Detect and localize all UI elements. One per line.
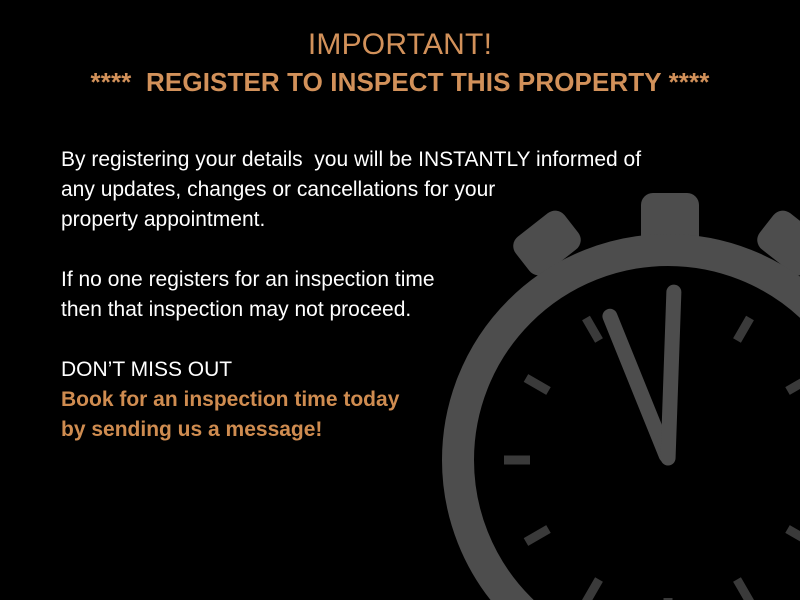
- cta-book-inspection: Book for an inspection time today: [61, 385, 721, 415]
- slide-canvas: IMPORTANT! **** REGISTER TO INSPECT THIS…: [0, 0, 800, 600]
- paragraph-registering-details: By registering your details you will be …: [61, 145, 721, 235]
- heading-important: IMPORTANT!: [0, 26, 800, 64]
- cta-dont-miss-out: DON’T MISS OUT: [61, 355, 721, 385]
- text-layer: IMPORTANT! **** REGISTER TO INSPECT THIS…: [0, 0, 800, 600]
- body-block: By registering your details you will be …: [61, 145, 721, 445]
- heading-register-to-inspect: **** REGISTER TO INSPECT THIS PROPERTY *…: [0, 64, 800, 100]
- paragraph-no-registration-warning: If no one registers for an inspection ti…: [61, 265, 721, 325]
- cta-send-message: by sending us a message!: [61, 415, 721, 445]
- call-to-action-block: DON’T MISS OUT Book for an inspection ti…: [61, 355, 721, 445]
- heading-block: IMPORTANT! **** REGISTER TO INSPECT THIS…: [0, 26, 800, 100]
